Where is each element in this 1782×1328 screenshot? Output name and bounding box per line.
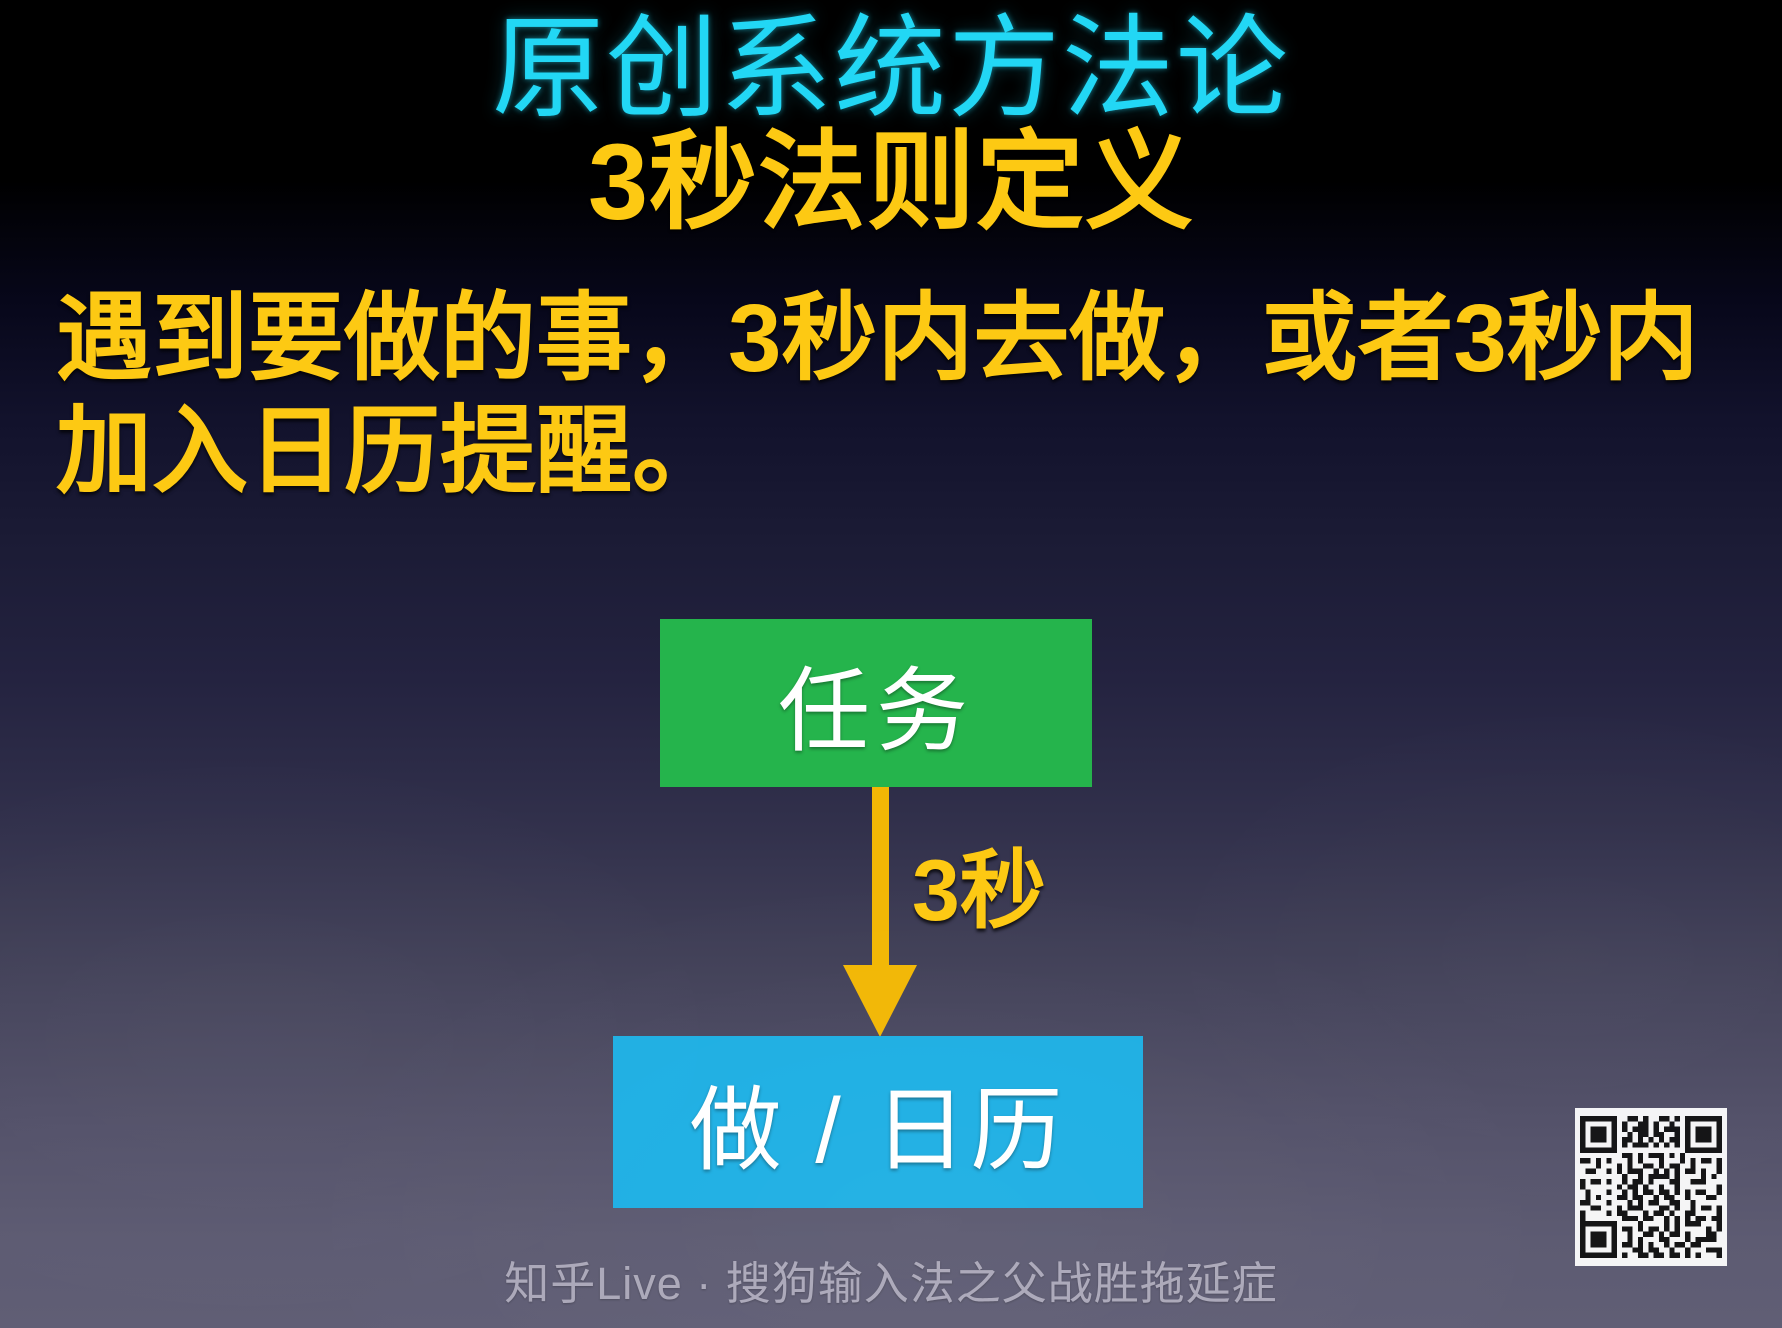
flow-arrow-shaft xyxy=(872,787,889,977)
flow-node-action-label: 做 / 日历 xyxy=(690,1056,1067,1189)
flow-arrow-label: 3秒 xyxy=(912,820,1046,945)
page-title: 原创系统方法论 xyxy=(0,0,1782,131)
flow-node-action: 做 / 日历 xyxy=(613,1036,1143,1208)
flow-node-task-label: 任务 xyxy=(778,637,974,770)
footer-credit: 知乎Live · 搜狗输入法之父战胜拖延症 xyxy=(0,1247,1782,1312)
headline-group: 原创系统方法论 3秒法则定义 xyxy=(0,0,1782,242)
body-paragraph: 遇到要做的事，3秒内去做，或者3秒内加入日历提醒。 xyxy=(56,282,1736,509)
page-subtitle: 3秒法则定义 xyxy=(0,123,1782,242)
presentation-slide: 原创系统方法论 3秒法则定义 遇到要做的事，3秒内去做，或者3秒内加入日历提醒。… xyxy=(0,0,1782,1328)
flow-node-task: 任务 xyxy=(660,619,1092,787)
flow-arrow-head-icon xyxy=(843,965,917,1037)
qr-code-icon[interactable] xyxy=(1575,1108,1727,1266)
